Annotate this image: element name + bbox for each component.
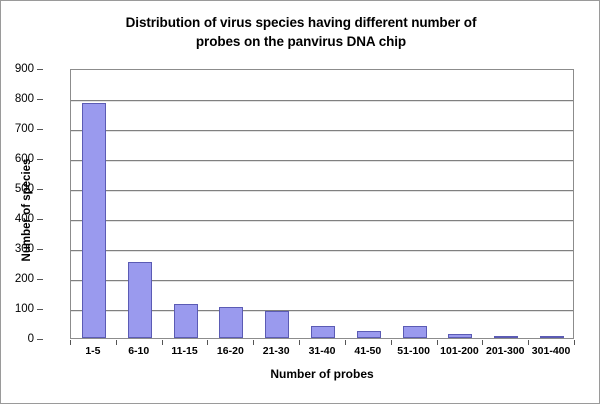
y-axis: 0100200300400500600700800900 (1, 1, 70, 405)
x-axis-tick (162, 340, 163, 345)
y-axis-tick (37, 69, 43, 70)
y-axis-tick (37, 189, 43, 190)
y-axis-tick-label: 900 (0, 63, 34, 75)
bar[interactable] (219, 307, 243, 339)
chart-title-line-2: probes on the panvirus DNA chip (41, 32, 561, 51)
x-axis-tick-label: 11-15 (171, 345, 197, 357)
x-axis-tick-label: 101-200 (440, 345, 479, 357)
x-axis-tick-label: 1-5 (85, 345, 100, 357)
x-axis-tick (345, 340, 346, 345)
y-axis-tick (37, 339, 43, 340)
chart-title-line-1: Distribution of virus species having dif… (41, 13, 561, 32)
x-axis-tick (116, 340, 117, 345)
chart-container: Distribution of virus species having dif… (0, 0, 600, 404)
bar-slot (529, 70, 575, 338)
bar-slot (392, 70, 438, 338)
bar[interactable] (311, 326, 335, 338)
bar-slot (346, 70, 392, 338)
bar[interactable] (82, 103, 106, 339)
x-axis-tick-label: 41-50 (354, 345, 381, 357)
x-axis-tick (70, 340, 71, 345)
y-axis-tick (37, 99, 43, 100)
x-axis-tick-label: 31-40 (309, 345, 336, 357)
bar[interactable] (357, 331, 381, 339)
chart-title: Distribution of virus species having dif… (41, 13, 561, 51)
y-axis-tick (37, 159, 43, 160)
y-axis-tick-label: 0 (0, 333, 34, 345)
bar[interactable] (540, 336, 564, 338)
x-axis-tick-label: 301-400 (532, 345, 571, 357)
bar-slot (208, 70, 254, 338)
x-axis-tick (299, 340, 300, 345)
y-axis-tick-label: 100 (0, 303, 34, 315)
y-axis-tick (37, 279, 43, 280)
bar-slot (254, 70, 300, 338)
bar-slot (300, 70, 346, 338)
x-axis-tick (574, 340, 575, 345)
y-axis-tick (37, 309, 43, 310)
x-axis-tick-label: 21-30 (263, 345, 290, 357)
x-axis-tick (391, 340, 392, 345)
x-axis-tick-label: 201-300 (486, 345, 525, 357)
x-axis: 1-56-1011-1516-2021-3031-4041-5051-10010… (70, 345, 574, 363)
bar[interactable] (128, 262, 152, 339)
x-axis-tick (437, 340, 438, 345)
x-axis-tick-label: 6-10 (128, 345, 149, 357)
x-axis-tick-label: 51-100 (397, 345, 430, 357)
x-axis-title: Number of probes (70, 367, 574, 381)
x-axis-tick (528, 340, 529, 345)
y-axis-tick (37, 249, 43, 250)
y-axis-tick (37, 219, 43, 220)
bar-slot (163, 70, 209, 338)
x-axis-tick (253, 340, 254, 345)
bar-slot (438, 70, 484, 338)
y-axis-tick (37, 129, 43, 130)
y-axis-title: Number of species (21, 130, 33, 290)
bar-series (71, 70, 573, 338)
x-axis-tick (207, 340, 208, 345)
bar-slot (117, 70, 163, 338)
bar[interactable] (265, 311, 289, 338)
x-axis-tick (482, 340, 483, 345)
y-axis-tick-label: 800 (0, 93, 34, 105)
bar[interactable] (494, 336, 518, 338)
bar[interactable] (448, 334, 472, 339)
bar[interactable] (403, 326, 427, 338)
bar-slot (71, 70, 117, 338)
bar[interactable] (174, 304, 198, 339)
bar-slot (483, 70, 529, 338)
plot-area (70, 69, 574, 339)
x-axis-tick-label: 16-20 (217, 345, 244, 357)
